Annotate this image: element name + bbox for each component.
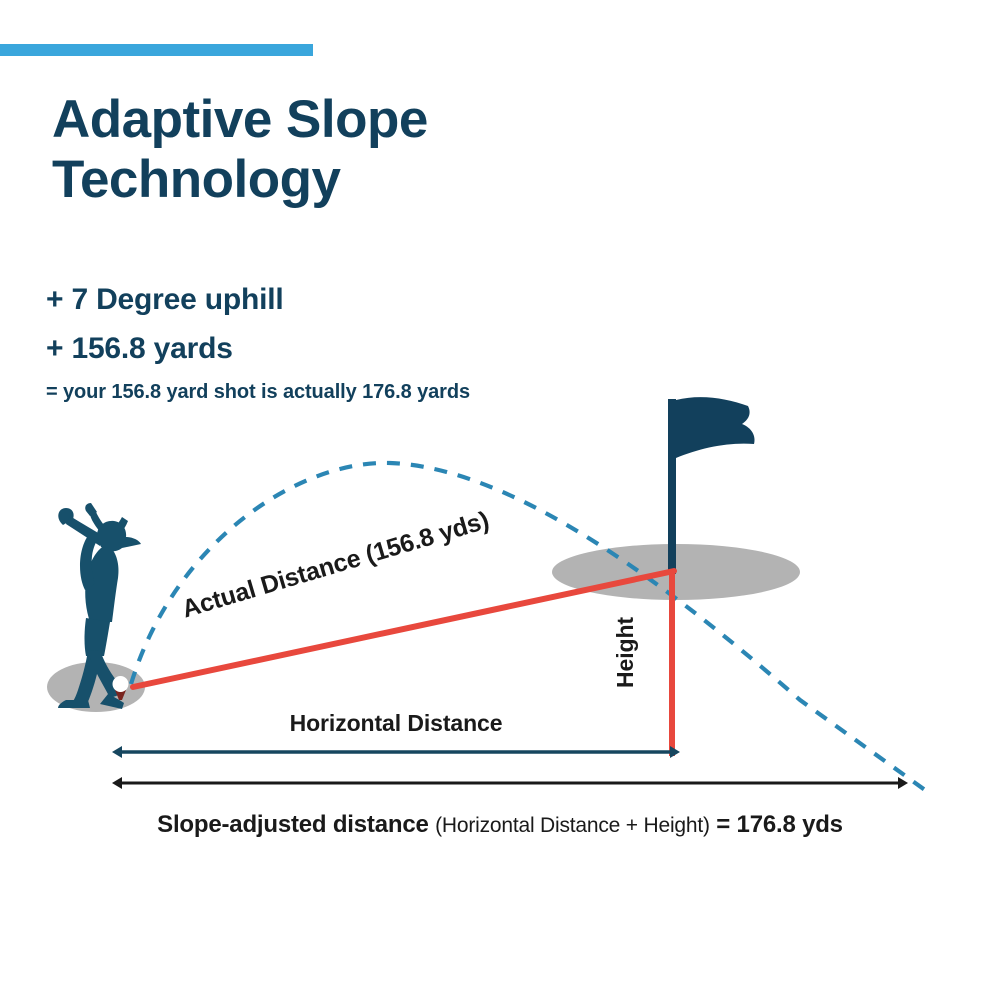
golf-slope-diagram [0, 0, 1000, 1000]
ball-trajectory-dashed-arc-icon [131, 463, 925, 790]
flag-pole-icon [668, 399, 676, 574]
caption-parenthetical: (Horizontal Distance + Height) [435, 814, 710, 837]
caption-bold-lead: Slope-adjusted distance [157, 811, 428, 838]
horizontal-distance-label: Horizontal Distance [120, 710, 672, 737]
height-label: Height [612, 617, 639, 688]
caption-bold-result: = 176.8 yds [716, 811, 843, 838]
slope-adjusted-caption: Slope-adjusted distance (Horizontal Dist… [0, 811, 1000, 839]
infographic-canvas: Adaptive Slope Technology + 7 Degree uph… [0, 0, 1000, 1000]
golf-flag-icon [676, 397, 755, 458]
